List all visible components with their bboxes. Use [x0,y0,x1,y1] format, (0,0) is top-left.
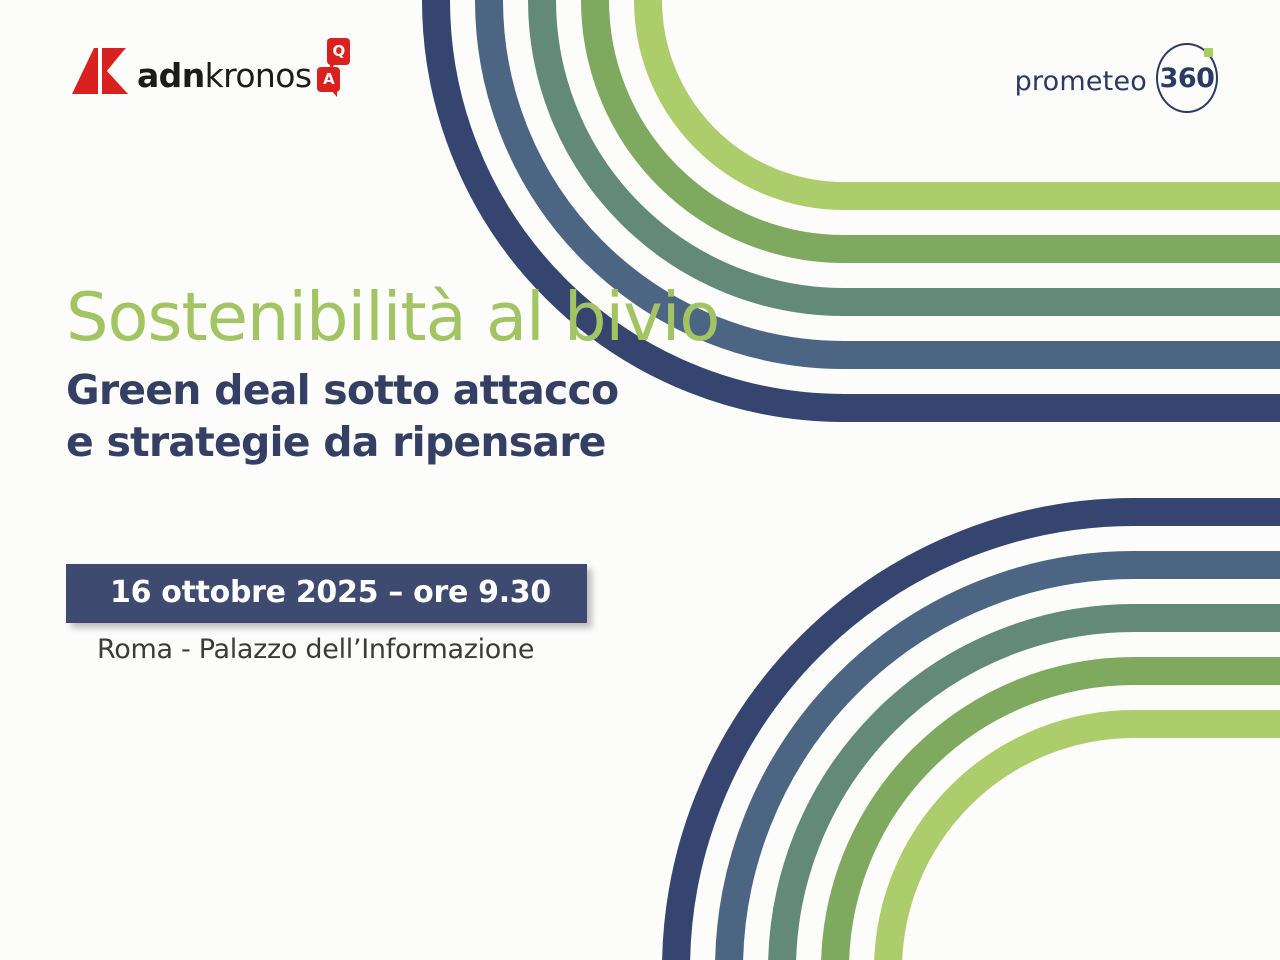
prometeo-green-dot-icon [1204,48,1213,57]
adnkronos-word-light: kronos [205,56,312,95]
event-venue: Roma - Palazzo dell’Informazione [97,634,534,665]
adnkronos-mark-icon [72,48,128,94]
headline-block: Sostenibilità al bivio Green deal sotto … [66,283,706,469]
arc-bottom-stripe-0 [676,512,1280,960]
event-subtitle: Green deal sotto attacco e strategie da … [66,365,706,468]
adnkronos-wordmark: adnkronos [137,59,311,92]
arc-bottom-stripe-4 [888,724,1280,960]
event-poster: adnkronos Q A prometeo 360 Sostenibilità… [0,0,1280,960]
arc-bottom-group [676,512,1280,960]
event-date-badge: 16 ottobre 2025 – ore 9.30 [66,564,587,623]
speech-bubble-question-icon: Q [327,38,350,65]
arc-bottom-stripe-1 [729,565,1280,960]
prometeo360-logo: prometeo 360 [1015,47,1218,109]
adnkronos-logo: adnkronos Q A [72,36,355,94]
speech-bubble-answer-icon: A [317,67,340,92]
arc-bottom-stripe-2 [782,618,1280,960]
adnkronos-word-bold: adn [137,56,205,95]
prometeo-wordmark: prometeo [1015,68,1147,95]
bubble-bottom-glyph: A [317,67,340,92]
prometeo-circle-badge: 360 [1156,43,1218,113]
decorative-arc-graphic [0,0,1280,960]
arc-top-stripe-3 [595,0,1280,249]
bubble-top-glyph: Q [327,38,350,65]
event-title: Sostenibilità al bivio [66,283,706,351]
arc-bottom-stripe-3 [835,671,1280,960]
bubble-bottom-tail-icon [331,90,337,97]
adnkronos-bubbles: Q A [313,38,355,94]
